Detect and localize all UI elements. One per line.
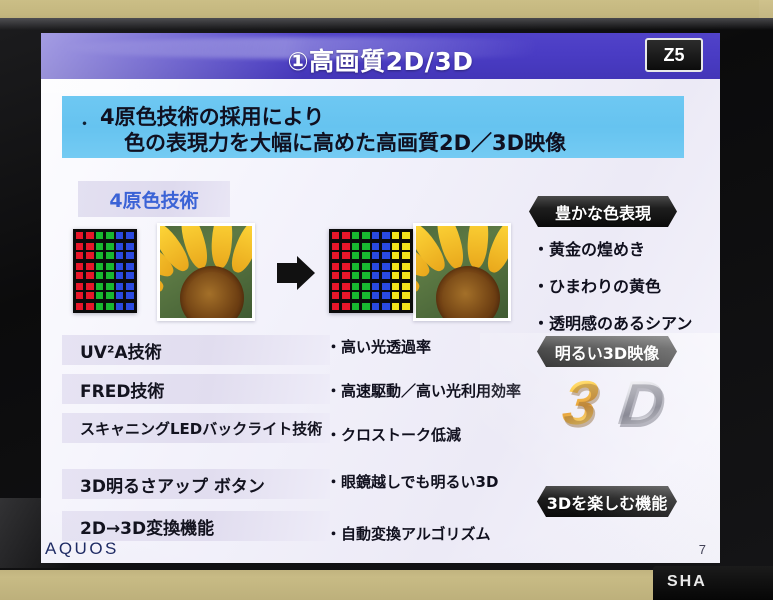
- tech-chip-fred: FRED技術: [62, 374, 330, 404]
- lead-line-2: 色の表現力を大幅に高めた高画質2D／3D映像: [124, 127, 566, 157]
- page-number: 7: [699, 542, 706, 557]
- sharp-logo-text: SHA: [667, 573, 707, 591]
- list-item: ・ひまわりの黄色: [533, 273, 713, 297]
- tech-chip-label: UV²A技術: [80, 338, 162, 363]
- subpixel-column-blue-2: [372, 232, 390, 310]
- four-color-tech-text: 4原色技術: [109, 186, 198, 213]
- subpixel-column-red-2: [332, 232, 350, 310]
- subpixel-column-green: [96, 232, 114, 310]
- subpixel-column-blue: [116, 232, 134, 310]
- callout-list-rich-color: ・黄金の煌めき ・ひまわりの黄色 ・透明感のあるシアン: [533, 236, 713, 347]
- benefit-list-bottom: ・眼鏡越しでも明るい3D ・自動変換アルゴリズム: [326, 471, 541, 563]
- subpixel-column-red: [76, 232, 94, 310]
- logo-3-glyph: 3: [560, 373, 601, 435]
- sunflower-photo-before: [157, 223, 255, 321]
- list-item: ・高い光透過率: [326, 336, 541, 357]
- status-badge: Z5: [645, 38, 703, 72]
- callout-heading-rich-color: 豊かな色表現: [529, 196, 677, 227]
- aquos-logo: AQUOS: [45, 539, 119, 559]
- callout-heading-bright-3d: 明るい3D映像: [537, 336, 677, 367]
- list-item: ・高速駆動／高い光利用効率: [326, 380, 541, 401]
- four-color-tech-label: 4原色技術: [78, 181, 230, 217]
- list-item: ・透明感のあるシアン: [533, 310, 713, 334]
- tech-chip-label: スキャニングLEDバックライト技術: [80, 418, 322, 439]
- callout-heading-text-3: 3Dを楽しむ機能: [547, 490, 667, 514]
- photographed-presentation-screen: SHA ①高画質2D/3D Z5 ・ 4原色技術の採用により 色の表現力を大幅に…: [0, 0, 773, 600]
- list-item: ・自動変換アルゴリズム: [326, 523, 541, 544]
- callout-heading-text-2: 明るい3D映像: [555, 340, 659, 364]
- slide-canvas: ①高画質2D/3D Z5 ・ 4原色技術の採用により 色の表現力を大幅に高めた高…: [41, 33, 720, 563]
- list-item: ・黄金の煌めき: [533, 236, 713, 260]
- benefit-list-top: ・高い光透過率 ・高速駆動／高い光利用効率 ・クロストーク低減: [326, 336, 541, 468]
- logo-d-glyph: D: [616, 373, 667, 435]
- subpixel-column-green-2: [352, 232, 370, 310]
- lead-statement-bar: ・ 4原色技術の採用により 色の表現力を大幅に高めた高画質2D／3D映像: [62, 96, 684, 158]
- tech-chip-scanning-led: スキャニングLEDバックライト技術: [62, 413, 330, 443]
- rgb-subpixel-grid: [73, 229, 137, 313]
- callout-heading-enjoy-3d: 3Dを楽しむ機能: [537, 486, 677, 517]
- sharp-brand-plate: SHA: [653, 566, 773, 600]
- tech-chip-label: 2D→3D変換機能: [80, 514, 214, 539]
- tech-chip-label: FRED技術: [80, 377, 164, 402]
- tech-chip-uv2a: UV²A技術: [62, 335, 330, 365]
- tech-chip-label: 3D明るさアップ ボタン: [80, 472, 265, 497]
- lead-bullet-icon: ・: [76, 110, 93, 135]
- three-d-logo: 3 D: [553, 371, 720, 445]
- list-item: ・クロストーク低減: [326, 424, 541, 445]
- callout-heading-text-1: 豊かな色表現: [555, 200, 651, 224]
- subpixel-comparison-diagram: [61, 223, 461, 328]
- tech-chip-3d-brightness-button: 3D明るさアップ ボタン: [62, 469, 330, 499]
- subpixel-column-yellow: [392, 232, 410, 310]
- slide-title-bar: ①高画質2D/3D Z5: [41, 33, 720, 79]
- list-item: ・眼鏡越しでも明るい3D: [326, 471, 541, 492]
- page-title: ①高画質2D/3D: [41, 42, 720, 78]
- bezel-top-reflection: [0, 18, 773, 30]
- tech-chip-2d-to-3d-conversion: 2D→3D変換機能: [62, 511, 330, 541]
- right-arrow-icon: [277, 256, 317, 290]
- sunflower-photo-after: [413, 223, 511, 321]
- rgby-subpixel-grid: [329, 229, 413, 313]
